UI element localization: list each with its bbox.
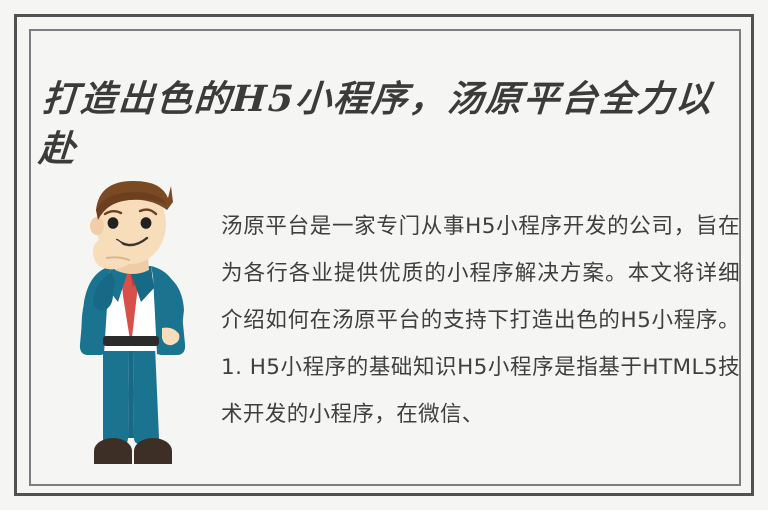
trouser-center-seam xyxy=(128,348,134,438)
right-eye xyxy=(141,217,152,229)
belt xyxy=(103,336,159,346)
article-title: 打造出色的H5小程序，汤原平台全力以赴 xyxy=(37,74,738,174)
left-eye xyxy=(108,217,119,229)
ear xyxy=(90,217,104,235)
left-shoe-base xyxy=(94,451,132,464)
right-trouser-leg xyxy=(133,346,159,444)
article-body-text: 汤原平台是一家专门从事H5小程序开发的公司，旨在为各行各业提供优质的小程序解决方… xyxy=(221,203,740,493)
thinking-businessman-illustration xyxy=(55,176,205,476)
left-trouser-leg xyxy=(103,346,129,444)
article-card: 打造出色的H5小程序，汤原平台全力以赴 xyxy=(0,0,768,510)
right-shoe-base xyxy=(134,451,172,464)
